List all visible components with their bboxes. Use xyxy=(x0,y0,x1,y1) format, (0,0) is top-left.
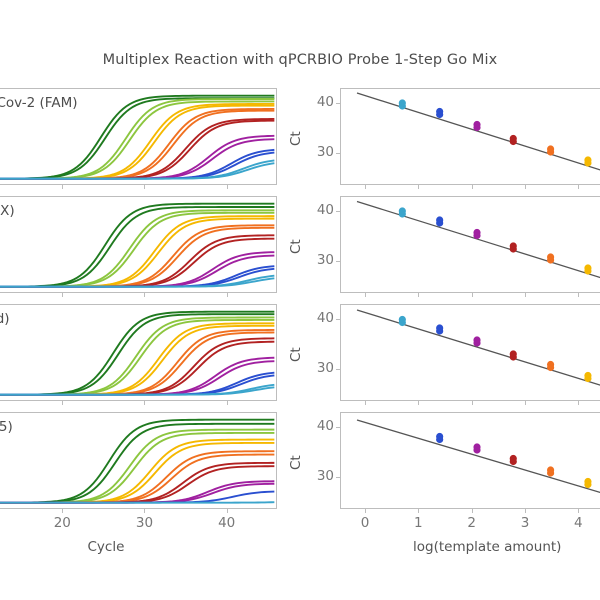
data-point xyxy=(399,316,406,323)
x-tick-mark xyxy=(62,401,63,405)
standard-curve-plot xyxy=(341,197,600,292)
y-tick-mark xyxy=(336,261,340,262)
amp-curve xyxy=(0,252,274,287)
x-tick-mark xyxy=(227,293,228,297)
amplification-panel-texas-red: exas Red) xyxy=(0,304,277,401)
amp-curve xyxy=(0,455,274,503)
regression-line xyxy=(357,93,600,179)
x-tick-mark xyxy=(144,509,145,513)
data-point xyxy=(547,145,554,152)
x-tick-mark xyxy=(525,293,526,297)
x-tick-label-cycle: 30 xyxy=(124,515,164,531)
data-point xyxy=(584,372,591,379)
x-axis-label-log-template: log(template amount) xyxy=(413,539,561,555)
amplification-curves xyxy=(0,305,276,400)
amplification-panel-cy5: za B (Cy5) xyxy=(0,412,277,509)
x-tick-label-cycle: 20 xyxy=(42,515,82,531)
y-tick-label: 40 xyxy=(294,94,334,110)
data-point xyxy=(436,433,443,440)
y-tick-label: 40 xyxy=(294,418,334,434)
x-tick-mark xyxy=(525,509,526,513)
y-tick-label: 30 xyxy=(294,360,334,376)
amp-curve xyxy=(0,109,274,179)
x-tick-mark xyxy=(578,401,579,405)
x-tick-mark xyxy=(365,509,366,513)
amplification-curves xyxy=(0,197,276,292)
amp-curve xyxy=(0,101,274,178)
x-tick-mark xyxy=(62,293,63,297)
x-axis-label-cycle: Cycle xyxy=(88,539,125,555)
panel-label-texas-red: exas Red) xyxy=(0,311,10,327)
standard-curve-plot xyxy=(341,305,600,400)
data-point xyxy=(473,121,480,128)
data-point xyxy=(584,478,591,485)
data-point xyxy=(547,466,554,473)
amp-curve xyxy=(0,361,274,395)
data-point xyxy=(436,216,443,223)
x-tick-mark xyxy=(525,401,526,405)
data-point xyxy=(399,99,406,106)
x-tick-mark xyxy=(62,509,63,513)
figure-canvas: Multiplex Reaction with qPCRBIO Probe 1-… xyxy=(0,0,600,600)
data-point xyxy=(436,324,443,331)
x-tick-mark xyxy=(578,293,579,297)
x-tick-mark xyxy=(418,185,419,189)
x-tick-mark xyxy=(418,293,419,297)
data-point xyxy=(473,443,480,450)
data-point xyxy=(473,229,480,236)
x-tick-mark xyxy=(365,293,366,297)
standard-curve-panel-texas-red: Eff xyxy=(340,304,600,401)
data-point xyxy=(584,264,591,271)
data-point xyxy=(510,242,517,249)
x-tick-mark xyxy=(472,185,473,189)
y-axis-label-ct: Ct xyxy=(288,455,304,470)
x-tick-mark xyxy=(144,185,145,189)
y-tick-label: 30 xyxy=(294,144,334,160)
y-tick-mark xyxy=(336,153,340,154)
x-tick-mark xyxy=(418,401,419,405)
x-tick-label-log: 0 xyxy=(345,515,385,531)
y-tick-mark xyxy=(336,369,340,370)
y-axis-label-ct: Ct xyxy=(288,239,304,254)
regression-line xyxy=(357,310,600,394)
x-tick-label-cycle: 40 xyxy=(207,515,247,531)
data-point xyxy=(399,207,406,214)
data-point xyxy=(547,361,554,368)
y-tick-label: 30 xyxy=(294,468,334,484)
data-point xyxy=(436,108,443,115)
y-tick-mark xyxy=(336,477,340,478)
x-tick-label-log: 1 xyxy=(398,515,438,531)
x-tick-mark xyxy=(62,185,63,189)
x-tick-mark xyxy=(472,509,473,513)
data-point xyxy=(510,455,517,462)
data-point xyxy=(510,350,517,357)
y-tick-mark xyxy=(336,103,340,104)
x-tick-mark xyxy=(472,293,473,297)
x-tick-mark xyxy=(525,185,526,189)
regression-line xyxy=(357,420,600,501)
panel-label-fam: e SARS-Cov-2 (FAM) xyxy=(0,95,77,111)
x-tick-mark xyxy=(144,293,145,297)
data-point xyxy=(510,135,517,142)
y-tick-label: 30 xyxy=(294,252,334,268)
amplification-curves xyxy=(0,413,276,508)
y-tick-mark xyxy=(336,211,340,212)
y-tick-mark xyxy=(336,427,340,428)
amp-curve xyxy=(0,451,274,502)
amplification-panel-fam: e SARS-Cov-2 (FAM) xyxy=(0,88,277,185)
x-tick-mark xyxy=(227,401,228,405)
x-tick-mark xyxy=(365,185,366,189)
x-tick-mark xyxy=(227,509,228,513)
amplification-panel-hex: za A (HEX) xyxy=(0,196,277,293)
x-tick-mark xyxy=(578,509,579,513)
y-tick-mark xyxy=(336,319,340,320)
x-tick-label-log: 2 xyxy=(452,515,492,531)
standard-curve-plot xyxy=(341,413,600,508)
panel-label-hex: za A (HEX) xyxy=(0,203,15,219)
amp-curve xyxy=(0,440,274,503)
y-axis-label-ct: Ct xyxy=(288,347,304,362)
standard-curve-panel-hex: Eff xyxy=(340,196,600,293)
standard-curve-panel-fam: Eff xyxy=(340,88,600,185)
standard-curve-plot xyxy=(341,89,600,184)
figure-title: Multiplex Reaction with qPCRBIO Probe 1-… xyxy=(0,52,600,68)
x-tick-mark xyxy=(578,185,579,189)
x-tick-mark xyxy=(144,401,145,405)
regression-line xyxy=(357,202,600,287)
data-point xyxy=(547,253,554,260)
panel-label-cy5: za B (Cy5) xyxy=(0,419,13,435)
x-tick-mark xyxy=(418,509,419,513)
y-tick-label: 40 xyxy=(294,202,334,218)
data-point xyxy=(584,156,591,163)
x-tick-label-log: 3 xyxy=(505,515,545,531)
y-tick-label: 40 xyxy=(294,310,334,326)
standard-curve-panel-cy5: Eff xyxy=(340,412,600,509)
x-tick-mark xyxy=(365,401,366,405)
x-tick-mark xyxy=(472,401,473,405)
y-axis-label-ct: Ct xyxy=(288,131,304,146)
x-tick-label-log: 4 xyxy=(558,515,598,531)
data-point xyxy=(473,336,480,343)
x-tick-mark xyxy=(227,185,228,189)
